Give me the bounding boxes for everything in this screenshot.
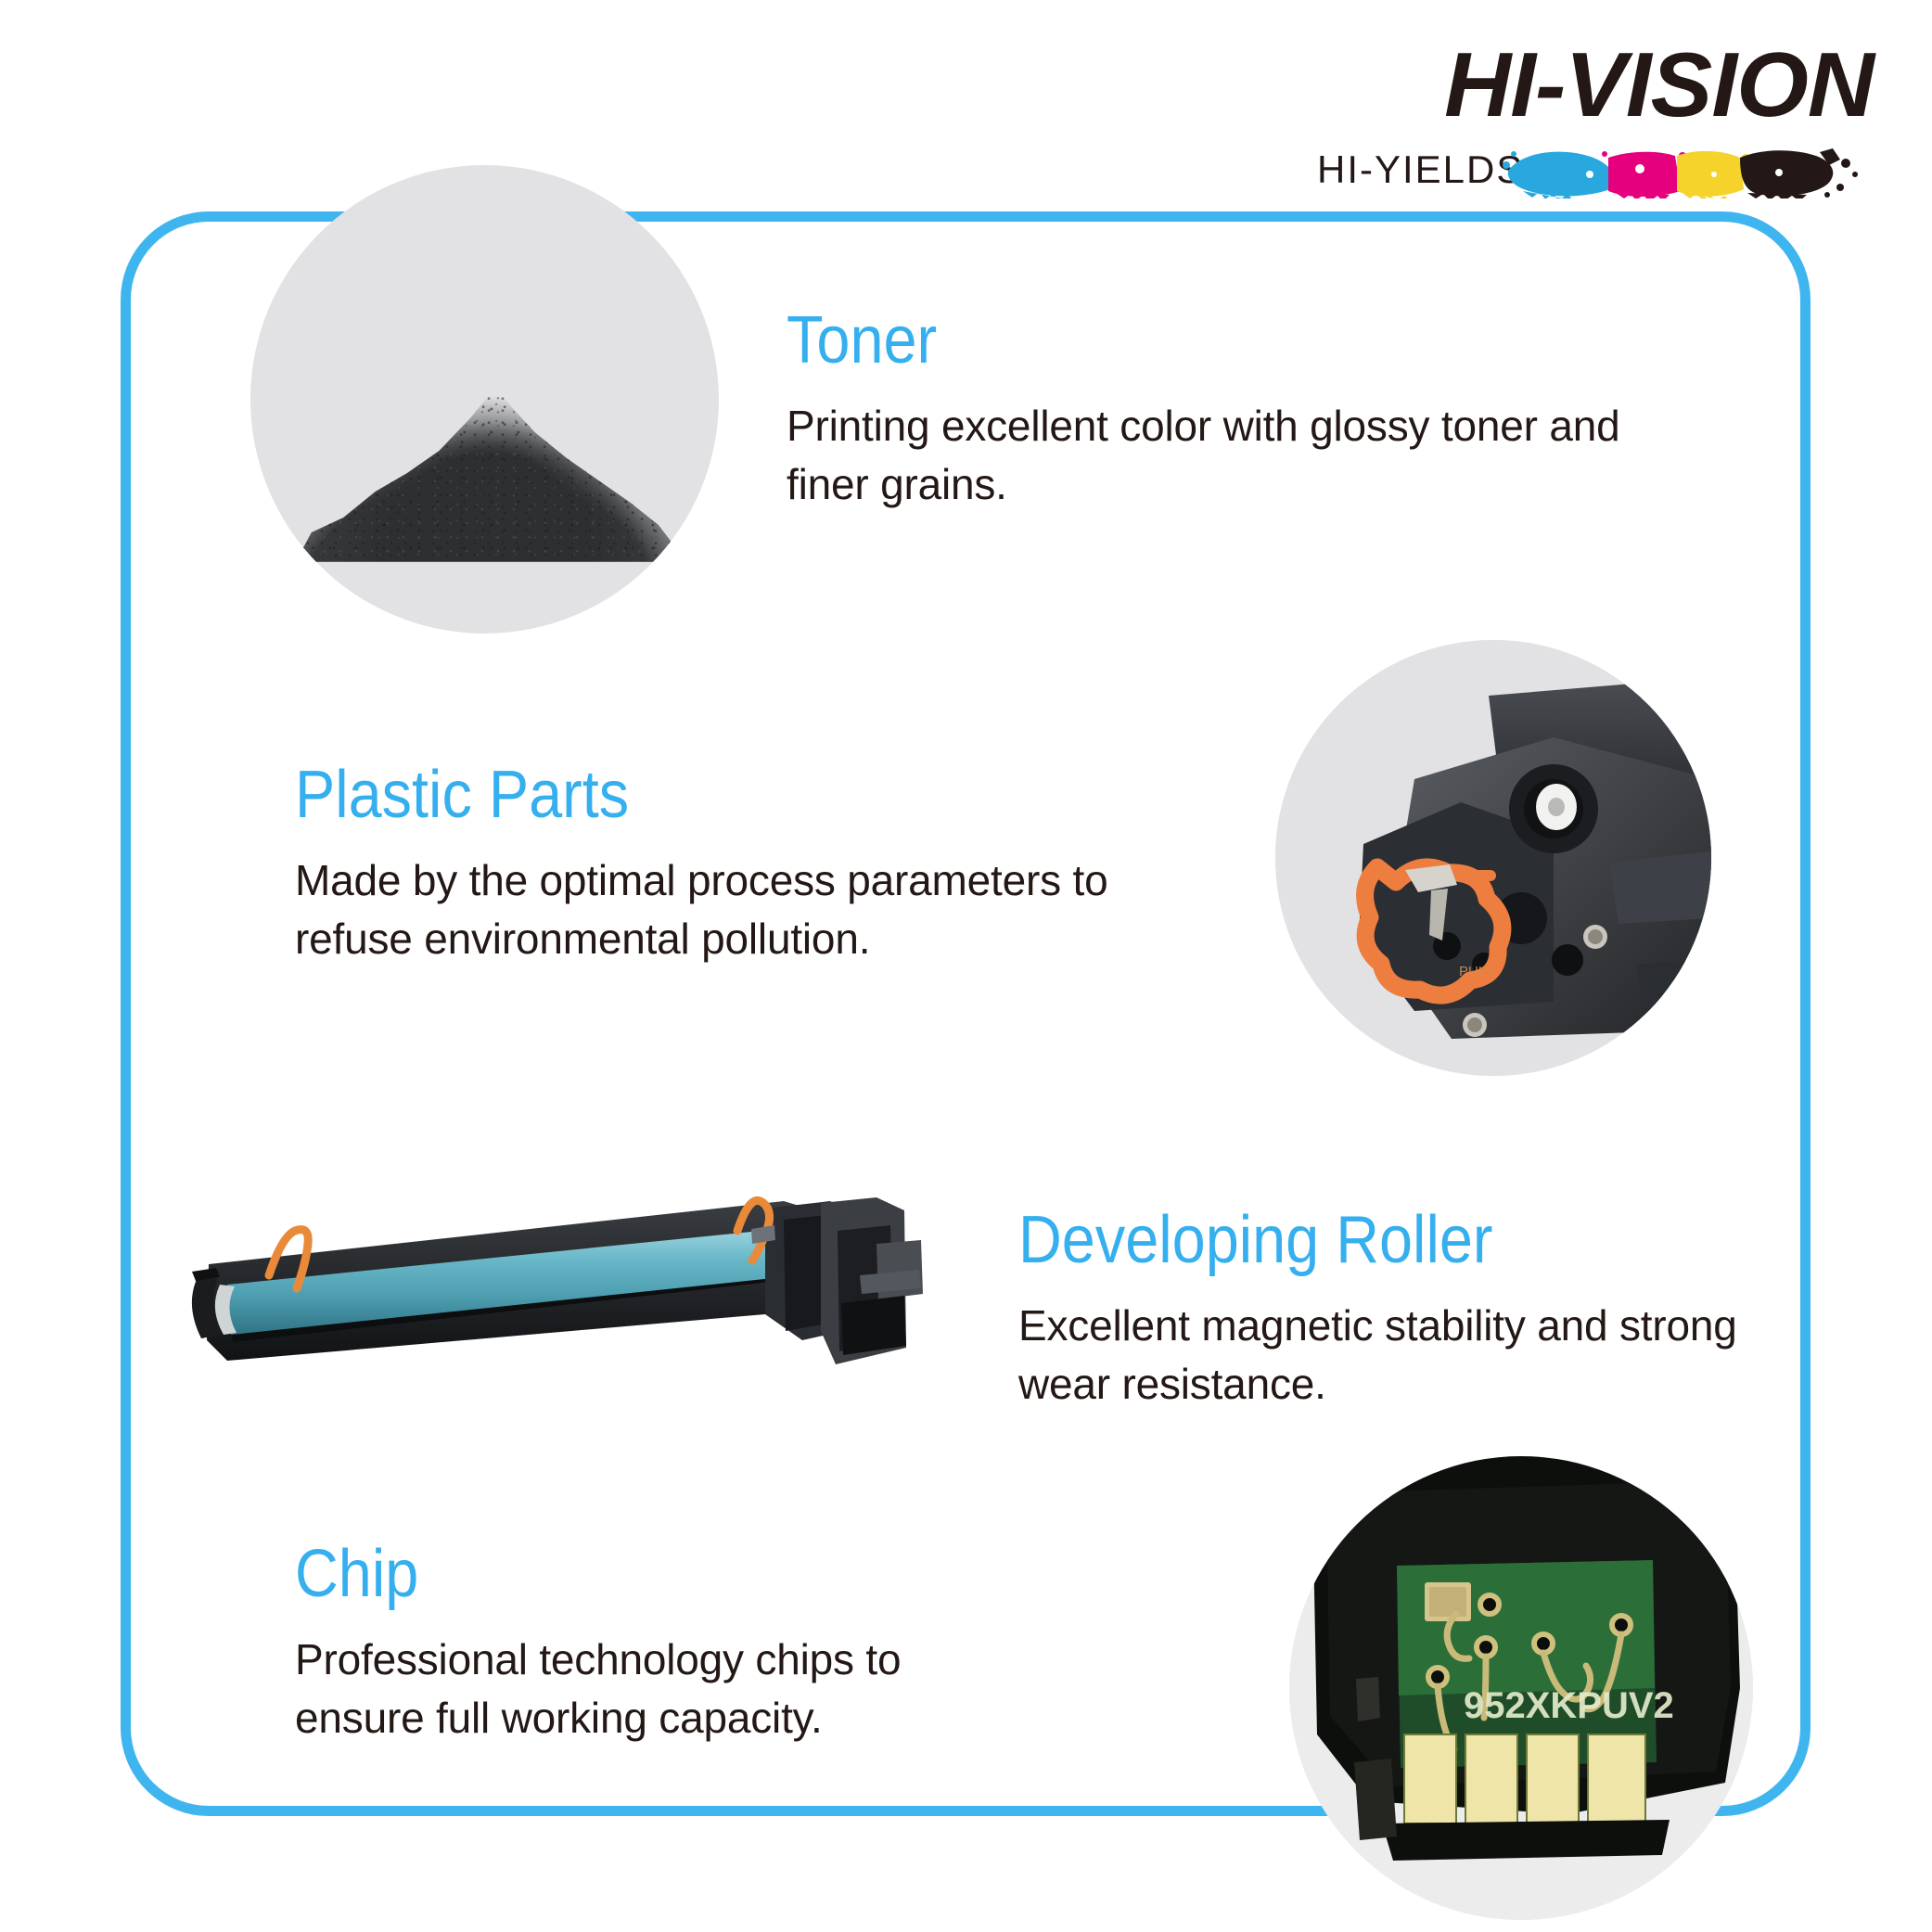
feature-body-chip: Professional technology chips to ensure … [295,1631,1000,1748]
svg-text:PULL: PULL [1459,964,1494,979]
feature-heading-plastic-parts: Plastic Parts [295,761,1046,831]
infographic-canvas: HI-VISION HI-YIELDS [0,0,1932,1932]
brand-tagline-row: HI-YIELDS [1317,147,1874,198]
plastic-parts-illustration: PULL [1275,640,1711,1076]
feature-body-plastic-parts: Made by the optimal process parameters t… [295,851,1130,969]
developing-roller-illustration [172,1192,923,1442]
feature-heading-toner: Toner [787,306,1538,377]
chip-pcb-marking: 952XKPUV2 [1464,1685,1674,1726]
feature-block-chip: Chip Professional technology chips to en… [295,1540,1000,1748]
feature-block-developing-roller: Developing Roller Excellent magnetic sta… [1018,1206,1779,1414]
feature-heading-developing-roller: Developing Roller [1018,1206,1703,1276]
chip-photo: 952XKPUV2 [1289,1456,1753,1920]
toner-powder-photo [250,165,719,633]
developing-roller-photo [172,1192,923,1442]
toner-grain-texture [288,377,686,562]
brand-tagline: HI-YIELDS [1317,150,1524,189]
brand-logo: HI-VISION HI-YIELDS [1317,39,1874,197]
feature-heading-chip: Chip [295,1540,929,1610]
brand-logo-text: HI-VISION [1306,39,1874,130]
feature-block-plastic-parts: Plastic Parts Made by the optimal proces… [295,761,1130,969]
plastic-parts-photo: PULL [1275,640,1711,1076]
cmyk-paint-splash-icon [1501,147,1872,198]
chip-illustration: 952XKPUV2 [1289,1456,1753,1920]
feature-body-developing-roller: Excellent magnetic stability and strong … [1018,1297,1779,1414]
feature-body-toner: Printing excellent color with glossy ton… [787,397,1621,515]
feature-block-toner: Toner Printing excellent color with glos… [787,306,1621,515]
